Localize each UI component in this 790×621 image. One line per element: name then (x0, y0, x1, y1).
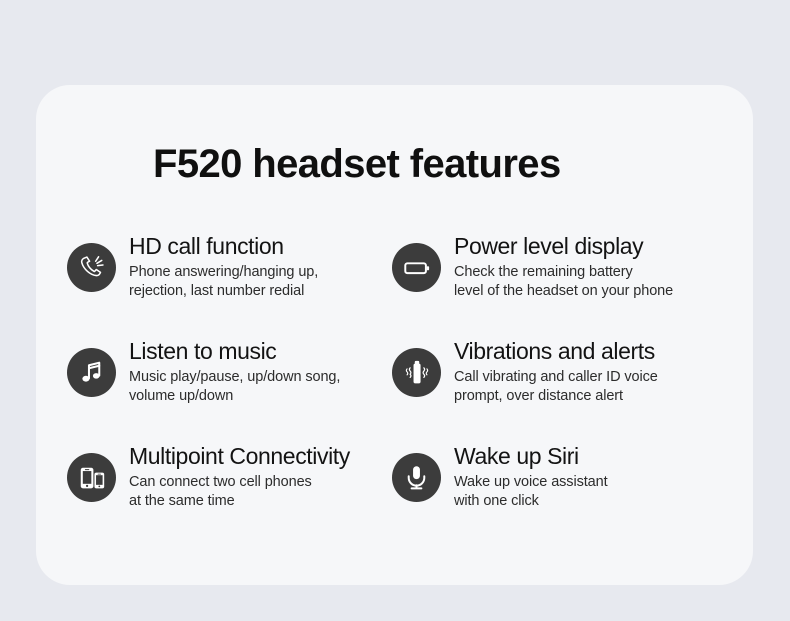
phone-call-icon (67, 243, 116, 292)
feature-heading: Wake up Siri (454, 441, 608, 471)
page-title: F520 headset features (153, 142, 561, 187)
feature-description: Check the remaining battery level of the… (454, 263, 673, 301)
microphone-icon (392, 453, 441, 502)
feature-heading: Listen to music (129, 336, 340, 366)
feature-text: Power level display Check the remaining … (441, 231, 673, 301)
feature-heading: Multipoint Connectivity (129, 441, 350, 471)
feature-text: Vibrations and alerts Call vibrating and… (441, 336, 658, 406)
feature-heading: HD call function (129, 231, 318, 261)
feature-item-wake-siri: Wake up Siri Wake up voice assistant wit… (378, 441, 723, 546)
feature-text: Listen to music Music play/pause, up/dow… (116, 336, 340, 406)
feature-text: HD call function Phone answering/hanging… (116, 231, 318, 301)
feature-description: Call vibrating and caller ID voice promp… (454, 368, 658, 406)
two-phones-icon (67, 453, 116, 502)
feature-heading: Power level display (454, 231, 673, 261)
feature-item-vibrations: Vibrations and alerts Call vibrating and… (378, 336, 723, 441)
battery-icon (392, 243, 441, 292)
feature-description: Phone answering/hanging up, rejection, l… (129, 263, 318, 301)
feature-grid: HD call function Phone answering/hanging… (36, 231, 753, 546)
music-note-icon (67, 348, 116, 397)
feature-item-hd-call: HD call function Phone answering/hanging… (36, 231, 378, 336)
feature-card: F520 headset features HD call function P… (36, 85, 753, 585)
feature-item-listen-music: Listen to music Music play/pause, up/dow… (36, 336, 378, 441)
feature-text: Multipoint Connectivity Can connect two … (116, 441, 350, 511)
vibration-icon (392, 348, 441, 397)
feature-item-multipoint: Multipoint Connectivity Can connect two … (36, 441, 378, 546)
feature-description: Music play/pause, up/down song, volume u… (129, 368, 340, 406)
feature-heading: Vibrations and alerts (454, 336, 658, 366)
feature-text: Wake up Siri Wake up voice assistant wit… (441, 441, 608, 511)
feature-item-power-level: Power level display Check the remaining … (378, 231, 723, 336)
feature-description: Can connect two cell phones at the same … (129, 473, 350, 511)
feature-description: Wake up voice assistant with one click (454, 473, 608, 511)
